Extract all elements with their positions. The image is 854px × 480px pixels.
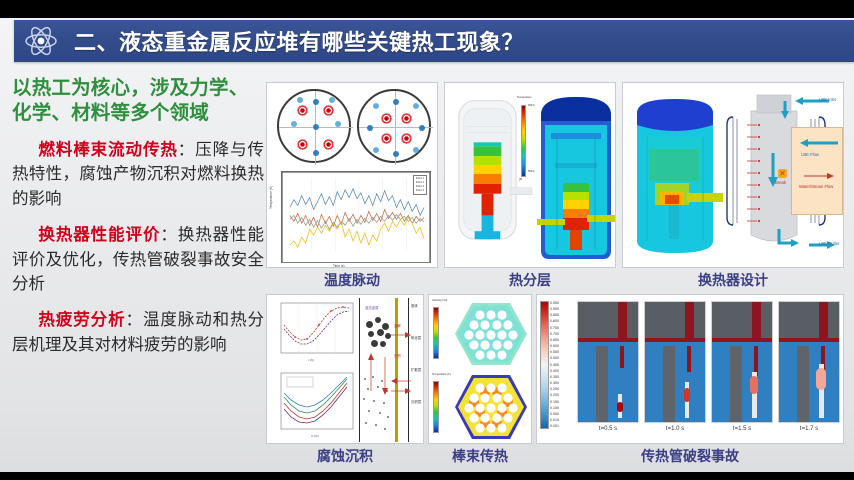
caption-thermal-stratification: 热分层	[444, 270, 616, 290]
bullet-sep-3: ：	[126, 311, 143, 329]
svg-text:C (%): C (%)	[311, 434, 319, 438]
rod-bundle-colorbar-bottom-title: Temperature [K]	[432, 374, 450, 377]
hx-legend-lbe-flow: LBE Flow	[801, 152, 841, 157]
rupture-frame-time-1: t=0.5 s	[577, 426, 639, 432]
page-title: 二、液态重金属反应堆有哪些关键热工现象？	[74, 25, 524, 57]
figure-temperature-fluctuation: Point 1 Point 2 Point 3 Point 4 Temperat…	[266, 82, 438, 268]
stratification-render-right	[537, 91, 615, 263]
figure-corrosion-deposition: t (h) C (%)	[266, 294, 424, 444]
nozzle-plate-right	[357, 89, 431, 163]
stratification-colorbar	[521, 105, 526, 177]
stratification-colorbar-min: 500.0	[528, 171, 535, 174]
figure-rod-bundle-heat-transfer: Velocity [m/s]	[428, 294, 532, 444]
hx-label-lbe-inlet: LBE Inlet	[819, 97, 836, 102]
rupture-frame-time-4: t=1.7 s	[778, 426, 840, 432]
bullet-keyword-1: 燃料棒束流动传热	[38, 141, 177, 159]
rupture-frame-time-2: t=1.0 s	[644, 426, 706, 432]
rupture-frame-2	[644, 301, 706, 423]
legend-item-4: Point 4	[416, 189, 424, 193]
figure-row-bottom: t (h) C (%)	[266, 294, 844, 472]
corrosion-plot-upper: t (h)	[271, 299, 357, 365]
rupture-frame-1	[577, 301, 639, 423]
bullet-paragraph-3: 热疲劳分析：温度脉动和热分层机理及其对材料疲劳的影响	[12, 308, 264, 357]
hx-cfd-render	[627, 91, 723, 261]
rupture-frame-4	[778, 301, 840, 423]
bullet-paragraph-1: 燃料棒束流动传热：压降与传热特性，腐蚀产物沉积对燃料换热的影响	[12, 138, 264, 211]
hx-legend-box: LBE Flow Water/Steam Flow	[791, 127, 843, 215]
caption-corrosion-deposition: 腐蚀沉积	[266, 446, 424, 466]
hx-label-break: Break	[775, 180, 786, 185]
letterbox-top	[0, 0, 854, 18]
slide-root: 二、液态重金属反应堆有哪些关键热工现象？ 以热工为核心，涉及力学、化学、材料等多…	[0, 0, 854, 480]
chart-ylabel: Temperature (K)	[269, 186, 273, 209]
cbval-20: 0.001	[550, 423, 572, 429]
bullet-paragraph-2: 换热器性能评价：换热器性能评价及优化，传热管破裂事故安全分析	[12, 223, 264, 296]
corrosion-plot-lower: C (%)	[271, 367, 357, 441]
hx-label-lbe-outlet: LBE Outlet	[819, 241, 839, 246]
atom-icon	[20, 20, 62, 62]
left-text-panel: 以热工为核心，涉及力学、化学、材料等多个领域 燃料棒束流动传热：压降与传热特性，…	[12, 76, 264, 468]
rod-bundle-colorbar-top-title: Velocity [m/s]	[432, 300, 447, 303]
caption-tube-rupture-accident: 传热管破裂事故	[536, 446, 844, 466]
chart-xlabel: Time (s)	[333, 264, 345, 268]
caption-heat-exchanger-design: 换热器设计	[622, 270, 844, 290]
chart-legend: Point 1 Point 2 Point 3 Point 4	[413, 175, 427, 195]
break-marker-icon: ✕	[778, 169, 787, 178]
bullet-sep-1: ：	[178, 141, 195, 159]
rod-bundle-colorbar-bottom	[433, 381, 439, 433]
svg-text:t (h): t (h)	[308, 358, 313, 362]
stratification-colorbar-title: Temperature	[517, 97, 532, 100]
bullet-keyword-2: 换热器性能评价	[38, 226, 160, 244]
figure-row-top: Point 1 Point 2 Point 3 Point 4 Temperat…	[266, 82, 844, 282]
stratification-colorbar-max: 900.0	[528, 105, 535, 108]
caption-temperature-fluctuation: 温度脉动	[266, 270, 438, 290]
bullet-sep-2: ：	[160, 226, 177, 244]
schematic-divider-1	[359, 298, 360, 442]
figure-grid: Point 1 Point 2 Point 3 Point 4 Temperat…	[266, 82, 844, 472]
bullet-keyword-3: 热疲劳分析	[38, 311, 125, 329]
slide-header: 二、液态重金属反应堆有哪些关键热工现象？	[14, 20, 854, 62]
rod-bundle-cross-section-2	[453, 373, 529, 441]
caption-rod-bundle-heat-transfer: 棒束传热	[428, 446, 532, 466]
rupture-frame-3	[711, 301, 773, 423]
rupture-colorbar-values: 0.950 0.900 0.850 0.800 0.750 0.700 0.65…	[550, 300, 572, 430]
stratification-colorbar-unit: [K]	[519, 179, 522, 182]
hx-legend-water-steam-flow: Water/Steam Flow	[799, 184, 841, 189]
rod-bundle-cross-section-1	[453, 301, 529, 367]
figure-tube-rupture-accident: 0.950 0.900 0.850 0.800 0.750 0.700 0.65…	[536, 294, 844, 444]
rod-bundle-colorbar-top	[433, 307, 439, 359]
figure-heat-exchanger-design: ✕ Break LBE Inlet LBE Outlet LBE Flow	[622, 82, 844, 268]
temperature-time-series-chart: Point 1 Point 2 Point 3 Point 4	[281, 171, 431, 263]
letterbox-bottom	[0, 472, 854, 480]
rupture-frame-time-3: t=1.5 s	[711, 426, 773, 432]
nozzle-plate-left	[277, 89, 351, 163]
rupture-colorbar	[540, 301, 549, 429]
figure-thermal-stratification: Temperature 900.0 500.0 [K]	[444, 82, 616, 268]
lead-statement: 以热工为核心，涉及力学、化学、材料等多个领域	[12, 76, 264, 126]
